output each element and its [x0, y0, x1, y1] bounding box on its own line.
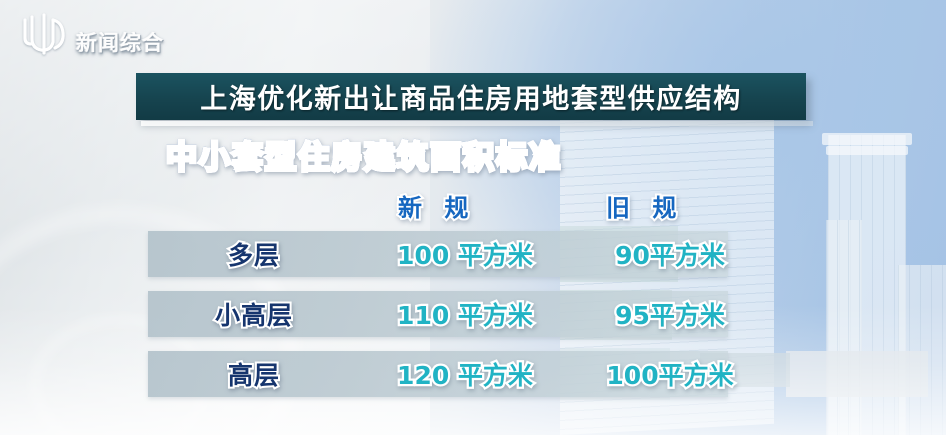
headline-banner-underline: [141, 121, 813, 126]
headline-text: 上海优化新出让商品住房用地套型供应结构: [200, 77, 742, 116]
row-old-rule-value: 95平方米: [570, 296, 770, 332]
channel-logo: 新闻综合: [16, 8, 164, 60]
row-old-rule-value: 100平方米: [570, 356, 770, 392]
row-old-rule-value: 90平方米: [570, 236, 770, 272]
row-type-label: 多层: [148, 236, 360, 272]
row-new-rule-value: 100 平方米: [360, 236, 570, 272]
channel-name-label: 新闻综合: [76, 27, 164, 60]
row-new-rule-value: 120 平方米: [360, 356, 570, 392]
row-type-label: 小高层: [148, 296, 360, 332]
subtitle-text: 中小套型住房建筑面积标准: [0, 132, 946, 177]
row-new-rule-value: 110 平方米: [360, 296, 570, 332]
broadcast-graphic-stage: 新闻综合 上海优化新出让商品住房用地套型供应结构 中小套型住房建筑面积标准 新 …: [0, 0, 946, 435]
column-header-old-rule: 旧 规: [606, 188, 683, 223]
table-row: 多层 100 平方米 90平方米: [148, 231, 728, 277]
column-header-new-rule: 新 规: [398, 188, 475, 223]
table-row: 高层 120 平方米 100平方米: [148, 351, 728, 397]
table-row: 小高层 110 平方米 95平方米: [148, 291, 728, 337]
row-type-label: 高层: [148, 356, 360, 392]
headline-banner: 上海优化新出让商品住房用地套型供应结构: [136, 73, 806, 120]
channel-flower-logo-icon: [16, 8, 72, 60]
